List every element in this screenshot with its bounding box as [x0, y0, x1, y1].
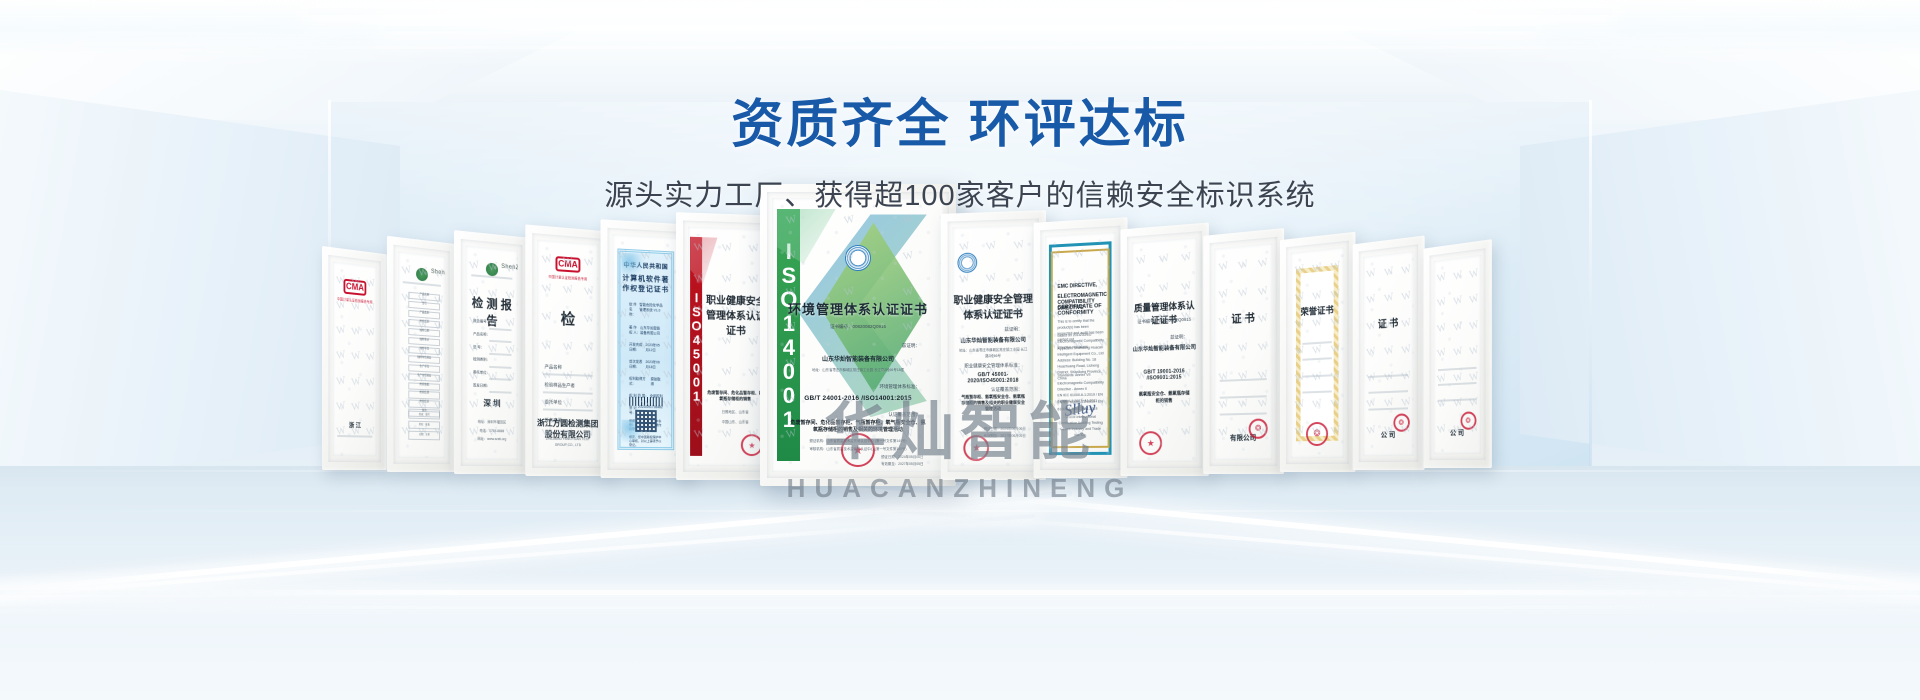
field-underline: [489, 391, 512, 394]
iso45001-spine: ISO45001: [690, 236, 702, 456]
address-line: 地址：深圳市福田区: [470, 420, 514, 427]
field-underline: [489, 340, 512, 343]
field-label: 检验样品生产者: [545, 382, 575, 389]
footer-field-box: 日期：主检: [409, 431, 440, 440]
divider: [471, 274, 513, 280]
official-seal-icon: ❂: [1306, 421, 1328, 445]
paper-watermark: WWWWWWWWWWWWWWWWWWWWW: [772, 198, 944, 472]
iso14001-spine: ISO14001: [777, 209, 799, 461]
divider: [1302, 357, 1332, 361]
paper-watermark: WWWWWWWWWWWWWWWWWWWWW: [333, 261, 377, 456]
official-seal-icon: ❂: [1393, 413, 1409, 432]
hero-scope-label: 认证覆盖范围：: [888, 412, 920, 418]
headings: 资质齐全 环评达标 源头实力工厂、获得超100家客户的信赖安全标识系统: [0, 0, 1920, 214]
iso45001-spine-label: ISO45001: [689, 290, 704, 403]
row-label: 著 作 权 人：: [629, 324, 640, 334]
row-label: 登 记 号：: [629, 405, 638, 415]
row-value: 全部权利: [650, 393, 663, 398]
software-cert-row: 软 件 名 称：智能危险化学品管理系统 V1.0: [629, 301, 663, 317]
certificate-frame-c14[interactable]: 公 司 ❂ WWWWWWWWWWWWWWWWWWWWW: [1424, 239, 1492, 468]
paper-watermark: WWWWWWWWWWWWWWWWWWWWW: [1363, 251, 1413, 456]
certification-seal-icon: [957, 253, 977, 274]
software-cert-rows: 软 件 名 称：智能危险化学品管理系统 V1.0著 作 权 人：山东华灿智能装备…: [620, 301, 671, 447]
hero-issue-date: 颁证日期：2024年05月06日: [786, 455, 924, 461]
software-cert-row: 著 作 权 人：山东华灿智能装备有限公司: [629, 324, 663, 335]
certificate-footer-c14: 公 司: [1434, 428, 1481, 439]
certificate-frame-c4[interactable]: CMA 中国计量认证检测报告专用 检 产品名称 检验样品生产者 委托单位 任务来…: [525, 224, 609, 476]
ce-issuer: USEM International Certification Auditin…: [1057, 413, 1103, 438]
certificate-title-c13: 证 书: [1363, 312, 1413, 331]
paper-watermark: WWWWWWWWWWWWWWWWWWWWW: [612, 234, 679, 464]
hero-standard-label: 环境管理体系标准：: [879, 384, 920, 390]
field-box: 抽样日期: [409, 328, 440, 338]
hero-certificate-number: 证书编号：00820082Q0915: [772, 324, 944, 330]
certificate-footer-c4: 浙江方圆检测集团股份有限公司: [537, 417, 598, 440]
divider: [1368, 374, 1408, 378]
official-seal-icon: ★: [964, 435, 990, 461]
web-line: 网址：www.szsti.org: [470, 437, 514, 443]
cma-logo: CMA: [556, 256, 581, 273]
page-subtitle: 源头实力工厂、获得超100家客户的信赖安全标识系统: [0, 172, 1920, 214]
cma-logo-caption: 中国计量认证检测报告专用: [337, 295, 373, 304]
issue-date: 颁证日期：2024年06月06日: [959, 426, 1026, 432]
software-copyright-certificate: 中华人民共和国 计算机软件著作权登记证书 软 件 名 称：智能危险化学品管理系统…: [617, 248, 674, 450]
official-seal-icon: ❂: [1460, 412, 1476, 431]
field-label: 委托单位: [545, 400, 562, 406]
hero-org-address: 地址：山东省枣庄市薛城区常庄镇工业园 长江路2段66号18幢: [786, 368, 931, 374]
divider: [1438, 367, 1476, 371]
paper-watermark: WWWWWWWWWWWWWWWWWWWWW: [466, 245, 518, 460]
field-box: 备注: [409, 409, 440, 417]
software-cert-note: 规定，经中国版权保护中心审核，对以上事项予以登记。: [629, 435, 663, 447]
divider: [1302, 341, 1332, 345]
cma-logo-caption: 中国计量认证检测报告专用: [548, 274, 587, 282]
field-box: 检验依据: [409, 382, 440, 391]
certificate-frame-hero[interactable]: ISO14001 环境管理体系认证证书 证书编号：00820082Q0915 兹…: [760, 184, 956, 486]
standard: GB/T 19001-2016 /ISO9001:2015: [1132, 368, 1197, 382]
org-name: 山东华灿智能装备有限公司: [953, 336, 1034, 346]
divider: [543, 409, 592, 412]
field-box: 产品名称: [409, 292, 440, 302]
certificate-footer-c3: 深 圳: [466, 397, 518, 410]
row-label: 软 件 名 称：: [629, 301, 639, 316]
accreditation-seal-icon: [486, 262, 498, 276]
ce-body-2: based on 2014/30/EU Electromagnetic Comp…: [1057, 331, 1103, 351]
cma-logo: CMA: [344, 278, 367, 295]
standard: GB/T 45001-2020/ISO45001:2018: [953, 372, 1034, 385]
software-cert-title-1: 中华人民共和国: [620, 260, 671, 272]
certificate-title-c6: 职业健康安全管理体系认证证书: [704, 292, 767, 338]
software-cert-row: 权利取得方式：原始取得: [629, 376, 663, 387]
page-title: 资质齐全 环评达标: [0, 96, 1920, 154]
certificate-frame-c12[interactable]: 荣誉证书 ❂ WWWWWWWWWWWWWWWWWWWWW: [1280, 232, 1356, 472]
hero-expiry-date: 有效期至：2027年05月05日: [786, 462, 924, 468]
divider: [1220, 378, 1267, 382]
field-box: 抽样地点: [409, 337, 440, 346]
divider: [1220, 412, 1267, 415]
ce-title-3: CERTIFICATE OF CONFORMITY: [1057, 303, 1104, 317]
expiry-date: 有效期至：2027年06月05日: [959, 434, 1026, 440]
certificate-line-2-c6: 中国山东、山东省: [706, 420, 765, 426]
certificate-title-c8: 职业健康安全管理体系认证证书: [953, 290, 1034, 322]
certificate-number-c10: 证书编号：00820082Q0915: [1132, 316, 1197, 325]
paper-watermark: WWWWWWWWWWWWWWWWWWWWW: [398, 251, 445, 458]
hero-certificate-title: 环境管理体系认证证书: [772, 299, 944, 318]
ornament-icon: [621, 420, 647, 446]
software-cert-title-2: 计算机软件著作权登记证书: [620, 273, 671, 295]
software-cert-row: 权 利 范 围：全部权利: [629, 393, 663, 399]
divider: [1302, 374, 1332, 377]
certificate-frame-c13[interactable]: 证 书 公 司 ❂ WWWWWWWWWWWWWWWWWWWWW: [1353, 235, 1425, 470]
row-label: 开发完成日期：: [629, 342, 645, 353]
ce-body-5: Standards: Annex VII: [1057, 372, 1103, 379]
software-cert-row: 开发完成日期：2023年05月12日: [629, 342, 663, 353]
hero-footnote-2: 审核机构：山东省质量技术监督局认证中心 (第一号文件第140号): [786, 447, 931, 453]
field-label: 任务来源: [545, 418, 562, 424]
official-seal-icon: ❂: [1249, 418, 1268, 438]
divider: [543, 391, 592, 394]
divider: [1220, 395, 1267, 398]
certificate-title-c11: 证 书: [1214, 308, 1272, 328]
ce-border-outer: [1049, 241, 1112, 455]
field-box: 抽样单位: [409, 346, 440, 355]
divider: [1438, 382, 1476, 386]
official-seal-icon: ★: [1139, 431, 1162, 455]
field-underline: [489, 327, 512, 330]
field-label: 报告编号：: [473, 319, 490, 325]
paper-watermark: WWWWWWWWWWWWWWWWWWWWW: [537, 240, 598, 463]
certificate-frame-c3[interactable]: ShenZhen 报告编号：产品名称：型 号：检测类别：委托单位：签发日期：检 …: [454, 230, 529, 474]
scope: 氨氧瓶安全仓、氨氧瓶存储柜的销售: [1138, 390, 1190, 405]
software-cert-row: 登 记 号：2023SR1736482: [629, 405, 663, 416]
org-label: 兹证明：: [1170, 334, 1187, 341]
signature: Slluy: [1064, 399, 1097, 421]
accreditation-seal-icon: [416, 268, 428, 282]
paper-watermark: WWWWWWWWWWWWWWWWWWWWW: [1434, 255, 1481, 454]
certificate-frame-c1[interactable]: CMA 中国计量认证检测报告专用 浙 江 WWWWWWWWWWWWWWWWWWW…: [322, 246, 387, 470]
software-cert-row: 首次发表日期：2023年06月18日: [629, 359, 663, 370]
certificate-frame-c9[interactable]: EMC DIRECTIVE, ELECTROMAGNETIC COMPATIBI…: [1034, 217, 1128, 478]
row-value: 2023年05月12日: [645, 342, 662, 353]
row-label: 权利取得方式：: [629, 376, 651, 387]
row-value: 2023SR1736482: [638, 405, 663, 415]
paper-watermark: WWWWWWWWWWWWWWWWWWWWW: [953, 225, 1034, 466]
field-box: 检验结果: [409, 391, 440, 400]
field-box: 型号: [409, 301, 440, 311]
certificate-footer-c1: 浙 江: [333, 420, 377, 430]
row-value: 智能危险化学品管理系统 V1.0: [639, 302, 662, 318]
scope: 气瓶暂存柜、氨氧瓶安全仓、氨氧瓶存储柜的销售及相关的职业健康安全管理活动: [961, 394, 1026, 413]
field-label: 签发日期：: [473, 383, 490, 389]
certificate-footer-c11: 有限公司: [1214, 432, 1272, 443]
field-label: 型 号：: [473, 344, 484, 350]
field-box: 生产单位地址: [409, 373, 440, 382]
org-label: 兹证明：: [1004, 326, 1022, 332]
divider: [1438, 398, 1476, 402]
iso14001-spine-label: ISO14001: [775, 239, 801, 431]
barcode: [629, 396, 662, 406]
standard-label: 职业健康安全管理体系标准：: [964, 362, 1022, 369]
scope-label: 认证覆盖范围：: [991, 386, 1022, 392]
certificate-line-1-c6: 日照地区、山东省: [706, 410, 765, 416]
row-value: 2023年06月18日: [645, 359, 662, 369]
ce-body-7: EN IEC 61000-6-1:2019 / EN 61000-6-3:200…: [1057, 391, 1103, 404]
divider: [337, 435, 372, 438]
field-underline: [489, 366, 512, 369]
ce-body-1: This is to certify that the product(s) h…: [1057, 317, 1103, 343]
field-box: 检验结论: [409, 400, 440, 408]
certificate-footer-c13: 公 司: [1363, 429, 1413, 440]
row-value: 原始取得: [651, 376, 663, 386]
ornament-icon: [621, 252, 647, 279]
divider: [1368, 390, 1408, 394]
divider: [543, 373, 592, 377]
field-label: 检测类别：: [473, 357, 490, 363]
official-seal-icon: ★: [841, 433, 875, 467]
field-label: 委托单位：: [473, 370, 490, 376]
hero-scope: 危废暂存间、危化品暂存柜、气瓶暂存柜、氧气瓶安全仓、氨氧瓶存储柜的销售及相关的环…: [789, 420, 927, 435]
field-rows-c3: 报告编号：产品名称：型 号：检测类别：委托单位：签发日期：检 测 报 告: [466, 245, 518, 250]
gold-border: [1296, 265, 1339, 442]
hero-org-label: 兹证明：: [902, 343, 920, 349]
certificate-frame-c2[interactable]: ShenZhen 产品名称型号产品类别检验类别抽样日期抽样地点抽样单位抽样单位地…: [387, 236, 456, 472]
certificate-frame-c10[interactable]: 质量管理体系认证证书 证书编号：00820082Q0915 兹证明： 山东华灿智…: [1120, 222, 1208, 476]
accreditation-seal-label: ShenZhen: [431, 269, 445, 278]
field-label: 产品名称: [545, 364, 562, 371]
field-label: 产品名称：: [473, 332, 490, 338]
certificate-number-c8: 证书编号：00820082S0915: [953, 309, 1034, 317]
ce-title-2: ELECTROMAGNETIC COMPATIBILITY DIRECTIVE: [1057, 292, 1104, 312]
paper-watermark: WWWWWWWWWWWWWWWWWWWWW: [1132, 238, 1197, 463]
row-value: 山东华灿智能装备有限公司: [640, 325, 663, 336]
field-box: 产品类别: [409, 310, 440, 320]
footer-field-box: 签发：填写: [409, 411, 440, 420]
row-label: 首次发表日期：: [629, 359, 645, 369]
divider: [1368, 407, 1408, 410]
paper-watermark: WWWWWWWWWWWWWWWWWWWWW: [1214, 243, 1272, 460]
diamond-graphic: [820, 223, 927, 393]
ribbon-fold-decor: [690, 236, 717, 285]
certification-seal-icon: [845, 245, 871, 271]
certificate-title-c10: 质量管理体系认证证书: [1132, 298, 1197, 327]
paper-watermark: WWWWWWWWWWWWWWWWWWWWW: [1291, 247, 1344, 458]
certificate-footer-en-c4: ZHEJIANG FANGYUAN TEST GROUP CO., LTD: [542, 437, 593, 449]
certificate-frame-c8[interactable]: 职业健康安全管理体系认证证书 证书编号：00820082S0915 兹证明： 山…: [941, 210, 1046, 480]
divider: [1302, 391, 1332, 394]
hero-standard: GB/T 24001-2016 /ISO14001:2015: [772, 395, 944, 402]
accreditation-seal-label: ShenZhen: [501, 264, 518, 272]
org-address: 地址：山东省枣庄市薛城区常庄镇工业园 长江路2段66号: [959, 348, 1027, 361]
certificate-frame-c11[interactable]: 证 书 有限公司 ❂ WWWWWWWWWWWWWWWWWWWWW: [1203, 228, 1284, 474]
certificate-title-c4: 检: [537, 306, 598, 330]
certificate-title-c12: 荣誉证书: [1291, 302, 1344, 319]
ce-body-4: Address: Building No. 18 Huazhuang Road,…: [1057, 356, 1103, 382]
qr-code: [635, 410, 657, 432]
hero-footnote-1: 颁证机构：山东省质量技术监督局认证中心 (第一号文件第140号): [786, 439, 931, 445]
field-list-c2: 产品名称型号产品类别检验类别抽样日期抽样地点抽样单位抽样单位地址生产单位生产单位…: [398, 251, 445, 256]
divider: [403, 281, 441, 287]
paper-watermark: WWWWWWWWWWWWWWWWWWWWW: [688, 227, 767, 466]
ce-border-inner: EMC DIRECTIVE, ELECTROMAGNETIC COMPATIBI…: [1051, 249, 1109, 449]
paper-watermark: WWWWWWWWWWWWWWWWWWWWW: [1045, 232, 1115, 464]
ce-body-6: Electromagnetic Compatibility Directive …: [1057, 379, 1103, 392]
hero-org-name: 山东华灿智能装备有限公司: [772, 354, 944, 363]
ribbon-fold-decor: [777, 209, 835, 264]
field-box: 检验类别: [409, 319, 440, 329]
banner-stage: 资质齐全 环评达标 源头实力工厂、获得超100家客户的信赖安全标识系统 CMA …: [0, 0, 1920, 700]
tel-line: 电话：0755-8888: [470, 428, 514, 435]
field-box: 生产单位: [409, 364, 440, 373]
ce-body-8: EN IEC 61000-3-2:2019 / EN 61000-3-3:201…: [1057, 399, 1103, 412]
field-underline: [489, 378, 512, 381]
footer-field-box: 签名：批准: [409, 421, 440, 430]
field-box: 抽样单位地址: [409, 355, 440, 364]
ce-title-1: EMC DIRECTIVE,: [1057, 282, 1104, 290]
ce-body-3: Applicant: Shandong Huacan Intelligent E…: [1057, 344, 1103, 358]
chevron-graphic: [793, 214, 927, 417]
row-label: 权 利 范 围：: [629, 393, 648, 398]
field-underline: [489, 353, 512, 356]
certificate-title-c3: 检 测 报 告: [466, 293, 518, 331]
certificate-scope-c6: 危废暂存间、危化品暂存柜、氨氧瓶存储柜的销售: [706, 389, 765, 402]
org-name: 山东华灿智能装备有限公司: [1132, 343, 1197, 354]
software-cert-note: 根据《计算机软件保护条例》和《计算机软件著作权登记办法》的: [629, 419, 663, 431]
